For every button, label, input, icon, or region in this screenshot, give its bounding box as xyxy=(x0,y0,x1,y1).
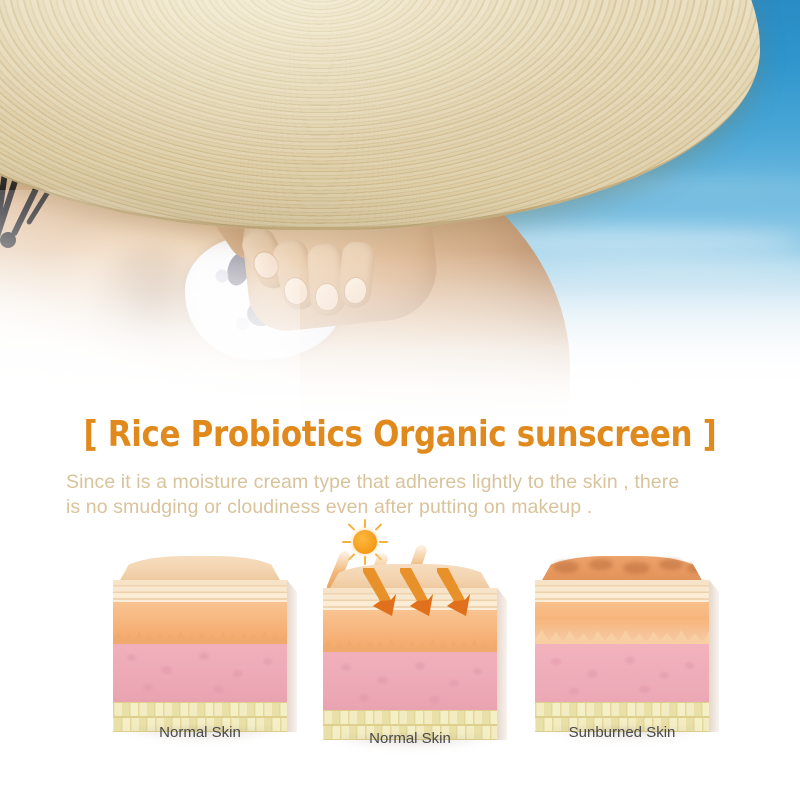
dermis-cell xyxy=(569,688,579,695)
dermis-cell xyxy=(473,668,482,675)
dermis-cell xyxy=(685,662,694,669)
dermis-layer xyxy=(113,644,287,702)
uv-penetration-arrow xyxy=(398,566,428,614)
stratum-corneum-layer xyxy=(535,580,709,602)
dermis-cell xyxy=(127,654,136,661)
dermis-cell xyxy=(143,684,153,691)
stratum-corneum-layer xyxy=(113,580,287,602)
dermis-cell xyxy=(341,664,351,671)
description-line-2: is no smudging or cloudiness even after … xyxy=(66,495,750,520)
dermis-cell xyxy=(161,666,172,674)
sun-ray-icon xyxy=(364,519,366,528)
diagram-panel-sunburned-skin: Sunburned Skin xyxy=(527,528,717,768)
fat-cell-row xyxy=(113,702,287,717)
fat-cell-row xyxy=(323,710,497,725)
panel-label-normal-skin-1: Normal Skin xyxy=(105,724,295,741)
dermis-cell xyxy=(429,696,440,703)
dermis-cell xyxy=(213,686,224,693)
product-promo-page: [ Rice Probiotics Organic sunscreen ] Si… xyxy=(0,0,800,800)
sunburned-skin-surface-top xyxy=(541,556,703,582)
dermis-cell xyxy=(449,680,459,687)
hero-photo-sunscreen-application xyxy=(0,0,800,420)
dermis-cell xyxy=(359,694,369,701)
sun-ray-icon xyxy=(348,523,356,531)
sun-ray-icon xyxy=(342,541,351,543)
fat-cell-row xyxy=(535,702,709,717)
skin-cross-section-block xyxy=(323,564,495,724)
dermis-cell xyxy=(377,676,388,684)
sun-ray-icon xyxy=(375,523,383,531)
photo-white-fade-left xyxy=(0,190,300,420)
dermis-cell xyxy=(263,658,272,665)
sunburn-spot xyxy=(623,562,650,574)
page-title: [ Rice Probiotics Organic sunscreen ] xyxy=(56,414,744,455)
panel-label-sunburned-skin: Sunburned Skin xyxy=(527,724,717,741)
dermis-cell xyxy=(199,652,209,660)
skin-layer-diagram-group: Normal Skin xyxy=(0,528,800,768)
uv-penetration-arrow xyxy=(361,566,391,614)
block-side-face xyxy=(497,588,507,740)
dermis-cell xyxy=(233,670,243,677)
panel-label-normal-skin-2: Normal Skin xyxy=(315,730,505,747)
dermis-cell xyxy=(639,686,650,693)
description-line-1: Since it is a moisture cream type that a… xyxy=(66,470,750,495)
skin-surface-top xyxy=(119,556,281,582)
uv-penetration-arrow xyxy=(435,566,465,614)
sunburn-spot xyxy=(687,563,705,573)
dermis-cell xyxy=(659,672,669,679)
block-side-face xyxy=(287,580,297,732)
dermis-cell xyxy=(415,662,425,670)
dermis-cell xyxy=(551,658,561,665)
dermis-cell xyxy=(625,656,635,664)
sun-ray-icon xyxy=(379,541,388,543)
block-side-face xyxy=(709,580,719,732)
dermis-layer xyxy=(535,644,709,702)
skin-cross-section-block xyxy=(535,556,707,716)
sunburn-spot xyxy=(589,559,613,570)
diagram-panel-normal-skin-2: Normal Skin xyxy=(315,528,505,768)
skin-cross-section-block xyxy=(113,556,285,716)
sun-icon xyxy=(353,530,377,554)
dermis-cell xyxy=(587,670,598,678)
product-description: Since it is a moisture cream type that a… xyxy=(66,470,750,520)
dermis-layer xyxy=(323,652,497,710)
sunburn-spot xyxy=(553,561,579,573)
sunburn-spot xyxy=(659,559,683,570)
diagram-panel-normal-skin-1: Normal Skin xyxy=(105,528,295,768)
